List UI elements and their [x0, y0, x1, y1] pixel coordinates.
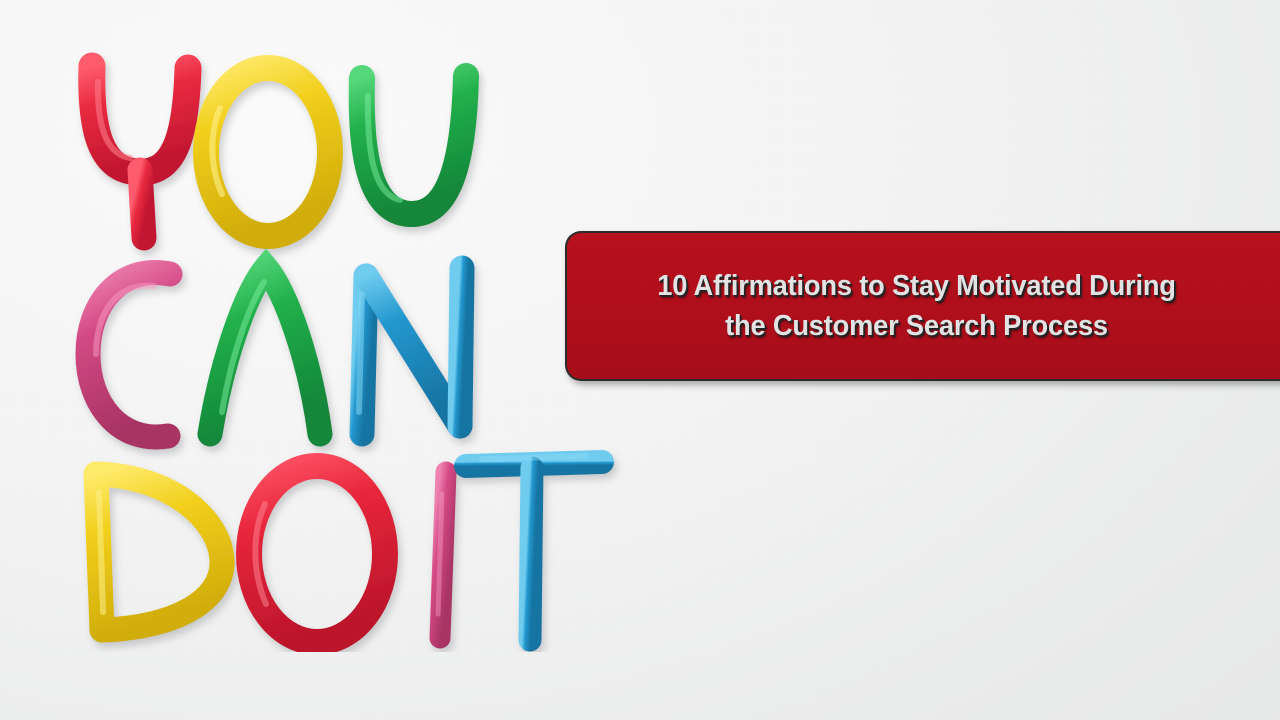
clay-letter-I: [438, 472, 446, 638]
clay-letter-D: [96, 474, 222, 630]
clay-line-you: [92, 66, 466, 238]
clay-line-do-it: [96, 456, 602, 642]
clay-letter-O-do: [249, 466, 385, 642]
clay-letter-O-you: [206, 68, 330, 236]
clay-letter-U: [362, 76, 466, 214]
clay-letter-Y: [92, 66, 188, 238]
slide-canvas: 10 Affirmations to Stay Motivated During…: [0, 0, 1280, 720]
clay-letter-T: [466, 456, 602, 640]
clay-letter-N: [359, 268, 462, 434]
clay-letter-C: [88, 272, 170, 437]
title-line-2: the Customer Search Process: [607, 306, 1226, 346]
title-banner: 10 Affirmations to Stay Motivated During…: [565, 231, 1280, 381]
clay-line-can: [88, 268, 462, 437]
title-line-1: 10 Affirmations to Stay Motivated During: [607, 266, 1226, 306]
clay-letter-A: [210, 268, 320, 434]
page-title: 10 Affirmations to Stay Motivated During…: [607, 266, 1226, 346]
